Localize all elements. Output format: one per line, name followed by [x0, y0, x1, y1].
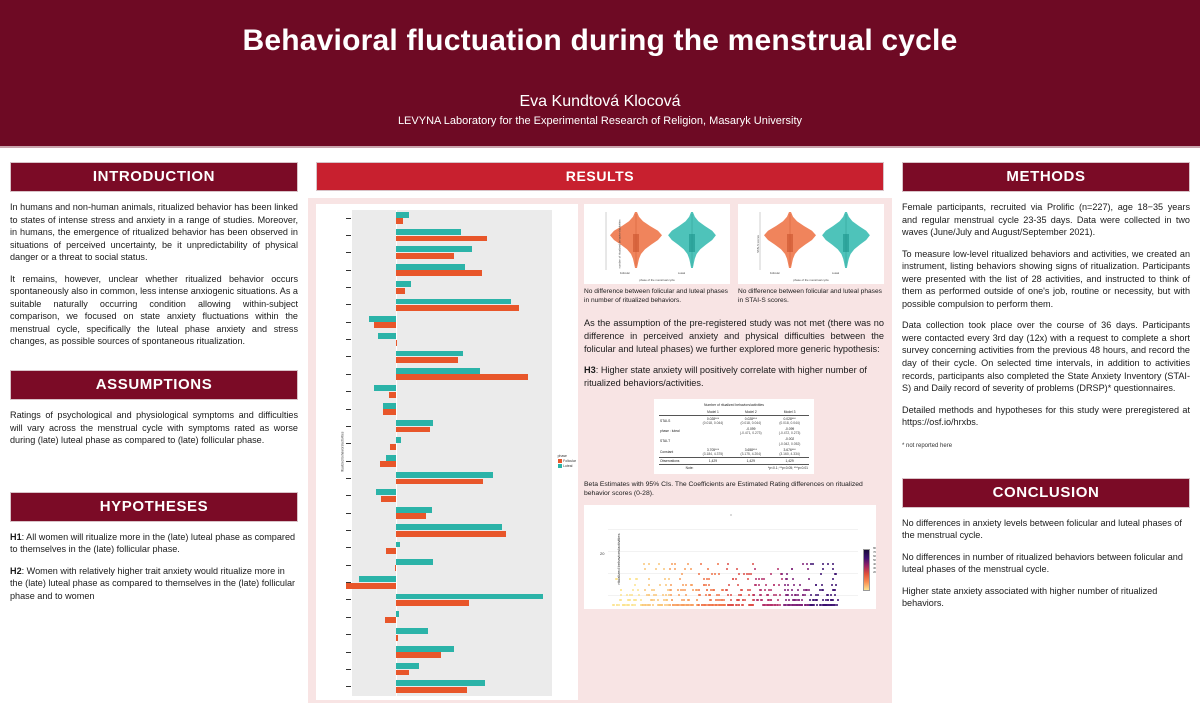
- scatter-point: [822, 599, 824, 601]
- bar-folicular-12: [396, 427, 429, 433]
- left-column: INTRODUCTION In humans and non-human ani…: [0, 150, 308, 675]
- scatter-point: [663, 568, 665, 570]
- scatter-point: [807, 604, 809, 606]
- scatter-point: [619, 599, 621, 601]
- scatter-point: [637, 589, 639, 591]
- bar-folicular-21: [346, 583, 396, 589]
- scatter-point: [668, 604, 670, 606]
- scatter-point: [700, 563, 702, 565]
- scatter-point: [648, 594, 650, 596]
- scatter-point: [680, 589, 682, 591]
- scatter-point: [708, 584, 710, 586]
- bar-luteal-0: [396, 212, 409, 218]
- scatter-point: [640, 599, 642, 601]
- stats-table-container: Number of ritualized behaviors/activitie…: [654, 399, 814, 474]
- scatter-point: [742, 604, 744, 606]
- scatter-point: [719, 599, 721, 601]
- author-name: Eva Kundtová Klocová: [0, 57, 1200, 111]
- table-cell: 1,429: [694, 457, 731, 464]
- bar-folicular-4: [396, 288, 404, 294]
- scatter-point: [658, 604, 660, 606]
- scatter-point: [755, 578, 757, 580]
- scatter-point: [735, 604, 737, 606]
- scatter-point: [684, 568, 686, 570]
- bar-folicular-11: [383, 409, 396, 415]
- scatter-gridline: [608, 551, 858, 552]
- bar-luteal-6: [369, 316, 397, 322]
- table-row-label: phase : luteal: [659, 426, 694, 436]
- hypothesis-h2-label: H2: [10, 566, 22, 576]
- legend-entry-luteal: Luteal: [558, 464, 576, 468]
- bar-folicular-22: [396, 600, 468, 606]
- scatter-point: [626, 604, 628, 606]
- scatter-point: [681, 604, 683, 606]
- scatter-point: [705, 594, 707, 596]
- scatter-point: [707, 568, 709, 570]
- scatter-point: [784, 584, 786, 586]
- scatter-point: [749, 604, 751, 606]
- bar-luteal-2: [396, 246, 472, 252]
- scatter-point: [618, 604, 620, 606]
- hypothesis-h2-text: : Women with relatively higher trait anx…: [10, 566, 295, 601]
- bar-luteal-24: [396, 628, 427, 634]
- table-cell: -0.099(-0.472, 0.273): [770, 426, 809, 436]
- scatter-point: [770, 573, 772, 575]
- scatter-point: [812, 563, 814, 565]
- bar-chart-legend: phase Folicular Luteal: [558, 454, 576, 468]
- bar-luteal-27: [396, 680, 485, 686]
- bar-luteal-26: [396, 663, 419, 669]
- scatter-point: [766, 604, 768, 606]
- scatter-point: [810, 594, 812, 596]
- table-row: STAI-T -0.002(-0.042, 0.052): [659, 436, 809, 446]
- bar-luteal-20: [396, 559, 433, 565]
- bar-luteal-14: [386, 455, 396, 461]
- scatter-point: [696, 604, 698, 606]
- bar-chart-ytick-7: [346, 339, 351, 340]
- bar-luteal-10: [374, 385, 396, 391]
- bar-folicular-0: [396, 218, 403, 224]
- scatter-point: [674, 563, 676, 565]
- table-row: STAI-S0.028***(0.018, 0.044)0.028***(0.0…: [659, 415, 809, 426]
- scatter-point: [635, 599, 637, 601]
- scatter-point: [730, 599, 732, 601]
- scatter-point: [678, 594, 680, 596]
- bar-chart-ytick-24: [346, 634, 351, 635]
- bar-luteal-18: [396, 524, 502, 530]
- scatter-point: [754, 568, 756, 570]
- bar-folicular-27: [396, 687, 466, 693]
- results-paragraph: As the assumption of the pre-registered …: [584, 317, 884, 355]
- scatter-point: [703, 578, 705, 580]
- hypothesis-h1-text: : All women will ritualize more in the (…: [10, 532, 295, 555]
- bar-luteal-25: [396, 646, 453, 652]
- scatter-point: [696, 599, 698, 601]
- scatter-point: [708, 578, 710, 580]
- scatter-point: [738, 604, 740, 606]
- scatter-point: [747, 578, 749, 580]
- bar-chart-ylabel: ritualized behaviors/activities: [340, 432, 344, 473]
- scatter-gridline: [608, 529, 858, 530]
- bar-folicular-20: [395, 565, 397, 571]
- violin-right-xtick-luteal: Luteal: [832, 272, 839, 275]
- scatter-point: [768, 604, 770, 606]
- bar-chart-ytick-17: [346, 513, 351, 514]
- violin-right-xtick-folicular: Folicular: [770, 272, 780, 275]
- scatter-point: [669, 589, 671, 591]
- hypothesis-h3-text: : Higher state anxiety will positively c…: [584, 365, 867, 388]
- bar-chart-ytick-14: [346, 461, 351, 462]
- scatter-point: [644, 589, 646, 591]
- center-column: RESULTS ritualized behaviors/activities …: [308, 150, 892, 675]
- scatter-point: [751, 604, 753, 606]
- scatter-point: [631, 604, 633, 606]
- author-affiliation: LEVYNA Laboratory for the Experimental R…: [0, 111, 1200, 127]
- section-heading-assumptions: ASSUMPTIONS: [10, 370, 298, 400]
- scatter-point: [726, 568, 728, 570]
- poster-header: Behavioral fluctuation during the menstr…: [0, 0, 1200, 148]
- scatter-point: [806, 563, 808, 565]
- scatter-point: [681, 573, 683, 575]
- scatter-point: [787, 584, 789, 586]
- bar-luteal-4: [396, 281, 411, 287]
- table-cell: 0.028***(0.018, 0.044): [694, 415, 731, 426]
- violin-plot-stai: STAI-S scores phase of the menstrual cyc…: [738, 204, 884, 284]
- results-right-column: number of ritualized behaviors/activitie…: [584, 204, 884, 703]
- bar-chart-ytick-0: [346, 218, 351, 219]
- section-heading-hypotheses: HYPOTHESES: [10, 492, 298, 522]
- regression-results-table: Number of ritualized behaviors/activitie…: [659, 403, 809, 471]
- scatter-point: [723, 599, 725, 601]
- scatter-point: [730, 594, 732, 596]
- scatter-point: [815, 584, 817, 586]
- bar-folicular-1: [396, 236, 487, 242]
- bar-luteal-8: [396, 351, 463, 357]
- bar-luteal-13: [396, 437, 400, 443]
- scatter-point: [690, 584, 692, 586]
- bar-luteal-15: [396, 472, 492, 478]
- bar-luteal-11: [383, 403, 396, 409]
- scatter-point: [830, 604, 832, 606]
- section-heading-results: RESULTS: [316, 162, 884, 191]
- scatter-point: [684, 589, 686, 591]
- section-heading-introduction: INTRODUCTION: [10, 162, 298, 192]
- violin-right-caption: No difference between folicular and lute…: [738, 288, 884, 305]
- scatter-point: [786, 573, 788, 575]
- bar-luteal-22: [396, 594, 542, 600]
- bar-folicular-13: [390, 444, 397, 450]
- poster-body: INTRODUCTION In humans and non-human ani…: [0, 150, 1200, 675]
- scatter-point: [801, 599, 803, 601]
- scatter-point: [629, 578, 631, 580]
- scatter-point: [664, 604, 666, 606]
- table-row-label: STAI-T: [659, 436, 694, 446]
- scatter-point: [804, 604, 806, 606]
- scatter-point: [804, 594, 806, 596]
- scatter-point: [788, 599, 790, 601]
- scatter-point: [811, 604, 813, 606]
- bar-chart-ytick-25: [346, 652, 351, 653]
- scatter-point: [791, 568, 793, 570]
- hypothesis-h1-label: H1: [10, 532, 22, 542]
- bar-luteal-12: [396, 420, 433, 426]
- methods-paragraph-4: Detailed methods and hypotheses for this…: [902, 404, 1190, 429]
- table-cell: 3.705***(3.184, 4.375): [694, 447, 731, 458]
- violin-left-xtick-folicular: Folicular: [620, 272, 630, 275]
- scatter-point: [659, 584, 661, 586]
- scatter-point: [706, 589, 708, 591]
- scatter-point: [759, 589, 761, 591]
- table-cell: 3.676***(3.160, 4.334): [770, 447, 809, 458]
- scatter-point: [819, 589, 821, 591]
- introduction-paragraph-2: It remains, however, unclear whether rit…: [10, 273, 298, 348]
- table-col-model3: Model 3: [770, 409, 809, 416]
- scatter-point: [620, 589, 622, 591]
- anxiety-behaviors-scatter-plot: ritualized behaviors/activities 20 80706…: [584, 505, 876, 609]
- scatter-point: [685, 594, 687, 596]
- scatter-point: [773, 584, 775, 586]
- scatter-point: [808, 578, 810, 580]
- scatter-point: [709, 604, 711, 606]
- legend-title: phase: [558, 454, 576, 458]
- scatter-point: [711, 604, 713, 606]
- scatter-point: [752, 563, 754, 565]
- scatter-point: [791, 589, 793, 591]
- scatter-point: [685, 584, 687, 586]
- table-cell: -0.099(-0.471, 0.273): [731, 426, 770, 436]
- scatter-point: [683, 599, 685, 601]
- scatter-point: [620, 599, 622, 601]
- scatter-point: [778, 584, 780, 586]
- scatter-point: [740, 589, 742, 591]
- bar-folicular-15: [396, 479, 483, 485]
- table-col-model1: Model 1: [694, 409, 731, 416]
- table-row: phase : luteal -0.099(-0.471, 0.273)-0.0…: [659, 426, 809, 436]
- scatter-point: [701, 604, 703, 606]
- bar-luteal-3: [396, 264, 465, 270]
- bar-luteal-9: [396, 368, 479, 374]
- table-row-observations: Observations1,4291,4291,429: [659, 457, 809, 464]
- table-cell: -0.002(-0.042, 0.052): [770, 436, 809, 446]
- section-heading-methods: METHODS: [902, 162, 1190, 192]
- scatter-point: [698, 573, 700, 575]
- bar-chart-ytick-5: [346, 304, 351, 305]
- bar-folicular-17: [396, 513, 426, 519]
- scatter-point: [738, 573, 740, 575]
- bar-folicular-14: [380, 461, 397, 467]
- scatter-point: [634, 604, 636, 606]
- violin-right-ylabel: STAI-S scores: [756, 235, 760, 253]
- scatter-point: [768, 589, 770, 591]
- bar-chart-ytick-26: [346, 669, 351, 670]
- scatter-ylabel: ritualized behaviors/activities: [616, 534, 621, 585]
- bar-chart-ytick-8: [346, 356, 351, 357]
- bar-folicular-3: [396, 270, 481, 276]
- scatter-point: [613, 604, 615, 606]
- scatter-point: [719, 604, 721, 606]
- bar-chart-ytick-16: [346, 495, 351, 496]
- bar-chart-ytick-22: [346, 599, 351, 600]
- right-column: METHODS Female participants, recruited v…: [892, 150, 1200, 675]
- scatter-point: [742, 599, 744, 601]
- stats-table-caption: Beta Estimates with 95% CIs. The Coeffic…: [584, 480, 884, 498]
- scatter-point: [667, 589, 669, 591]
- legend-label-folicular: Folicular: [563, 459, 576, 463]
- bar-luteal-21: [359, 576, 396, 582]
- scatter-point: [668, 578, 670, 580]
- conclusion-paragraph-3: Higher state anxiety associated with hig…: [902, 585, 1190, 610]
- table-cell: [694, 436, 731, 446]
- scatter-point: [687, 604, 689, 606]
- scatter-point: [800, 604, 802, 606]
- scatter-point: [703, 584, 705, 586]
- scatter-point: [732, 578, 734, 580]
- scatter-point: [765, 584, 767, 586]
- table-row-label: Observations: [659, 457, 694, 464]
- scatter-point: [677, 604, 679, 606]
- scatter-point: [688, 599, 690, 601]
- methods-paragraph-3: Data collection took place over the cour…: [902, 319, 1190, 394]
- scatter-point: [718, 573, 720, 575]
- scatter-point: [661, 604, 663, 606]
- scatter-point: [695, 589, 697, 591]
- table-cell: 1,429: [731, 457, 770, 464]
- scatter-point: [785, 599, 787, 601]
- scatter-point: [703, 604, 705, 606]
- bar-chart-ytick-1: [346, 235, 351, 236]
- scatter-point: [823, 604, 825, 606]
- violin-left-ylabel: number of ritualized behaviors/activitie…: [617, 220, 621, 269]
- scatter-colorbar-tick: 20: [873, 571, 876, 575]
- scatter-point: [761, 599, 763, 601]
- bar-chart-ytick-21: [346, 582, 351, 583]
- bar-luteal-5: [396, 299, 511, 305]
- scatter-point: [832, 604, 834, 606]
- scatter-point: [832, 578, 834, 580]
- scatter-point: [819, 604, 821, 606]
- scatter-point: [727, 594, 729, 596]
- scatter-point: [732, 604, 734, 606]
- bar-chart-ytick-9: [346, 374, 351, 375]
- scatter-point: [669, 568, 671, 570]
- bar-luteal-19: [396, 542, 400, 548]
- scatter-point: [777, 599, 779, 601]
- scatter-point: [671, 563, 673, 565]
- bar-folicular-23: [385, 617, 396, 623]
- scatter-point: [752, 599, 754, 601]
- scatter-point: [644, 568, 646, 570]
- bar-chart-ytick-3: [346, 270, 351, 271]
- scatter-point: [679, 578, 681, 580]
- conclusion-paragraph-2: No differences in number of ritualized b…: [902, 551, 1190, 576]
- hypothesis-h1: H1: All women will ritualize more in the…: [10, 531, 298, 556]
- bar-luteal-7: [378, 333, 397, 339]
- table-row-label: STAI-S: [659, 415, 694, 426]
- bar-folicular-24: [396, 635, 398, 641]
- scatter-point: [793, 584, 795, 586]
- bar-folicular-25: [396, 652, 440, 658]
- scatter-point: [652, 604, 654, 606]
- bar-folicular-16: [381, 496, 397, 502]
- scatter-point: [718, 594, 720, 596]
- bar-chart-ytick-4: [346, 287, 351, 288]
- scatter-point-outlier: [730, 514, 732, 516]
- scatter-point: [643, 563, 645, 565]
- bar-folicular-2: [396, 253, 453, 259]
- scatter-point: [648, 584, 650, 586]
- legend-swatch-folicular: [558, 459, 562, 463]
- scatter-point: [727, 563, 729, 565]
- scatter-point: [822, 589, 824, 591]
- scatter-point: [714, 573, 716, 575]
- bar-folicular-6: [374, 322, 396, 328]
- scatter-point: [832, 568, 834, 570]
- violin-svg: [584, 204, 730, 284]
- bar-chart-ytick-2: [346, 252, 351, 253]
- bar-folicular-10: [389, 392, 396, 398]
- scatter-point: [642, 604, 644, 606]
- bar-folicular-9: [396, 374, 527, 380]
- scatter-point: [743, 573, 745, 575]
- scatter-point: [709, 594, 711, 596]
- scatter-point: [832, 563, 834, 565]
- scatter-point: [761, 578, 763, 580]
- scatter-point: [805, 589, 807, 591]
- scatter-point: [634, 584, 636, 586]
- scatter-point: [764, 589, 766, 591]
- introduction-paragraph-1: In humans and non-human animals, rituali…: [10, 201, 298, 264]
- bar-chart-ytick-20: [346, 565, 351, 566]
- methods-footnote: * not reported here: [902, 443, 1190, 449]
- table-note-label: Note:: [659, 464, 694, 471]
- bar-folicular-5: [396, 305, 518, 311]
- bar-luteal-1: [396, 229, 461, 235]
- table-body: STAI-S0.028***(0.018, 0.044)0.028***(0.0…: [659, 415, 809, 471]
- scatter-point: [636, 578, 638, 580]
- hypothesis-h3: H3: Higher state anxiety will positively…: [584, 364, 884, 389]
- scatter-point: [668, 594, 670, 596]
- scatter-point: [717, 563, 719, 565]
- scatter-point: [779, 604, 781, 606]
- scatter-point: [692, 589, 694, 591]
- scatter-point: [781, 578, 783, 580]
- scatter-point: [674, 568, 676, 570]
- scatter-point: [648, 563, 650, 565]
- scatter-point: [648, 604, 650, 606]
- scatter-point: [750, 573, 752, 575]
- scatter-point: [736, 568, 738, 570]
- conclusion-paragraph-1: No differences in anxiety levels between…: [902, 517, 1190, 542]
- scatter-point: [809, 599, 811, 601]
- scatter-point: [779, 594, 781, 596]
- scatter-point: [835, 584, 837, 586]
- bar-chart-ytick-19: [346, 547, 351, 548]
- table-row-note: Note:*p<0.1; **p<0.05; ***p<0.01: [659, 464, 809, 471]
- scatter-point: [791, 594, 793, 596]
- legend-label-luteal: Luteal: [563, 464, 572, 468]
- scatter-point: [802, 563, 804, 565]
- scatter-point: [698, 589, 700, 591]
- table-row-label: Constant: [659, 447, 694, 458]
- scatter-point: [690, 568, 692, 570]
- bar-chart-ytick-6: [346, 322, 351, 323]
- scatter-point: [715, 604, 717, 606]
- scatter-point: [655, 568, 657, 570]
- scatter-point: [671, 599, 673, 601]
- scatter-point: [744, 599, 746, 601]
- table-cell: [694, 426, 731, 436]
- violin-plots-row: number of ritualized behaviors/activitie…: [584, 204, 884, 305]
